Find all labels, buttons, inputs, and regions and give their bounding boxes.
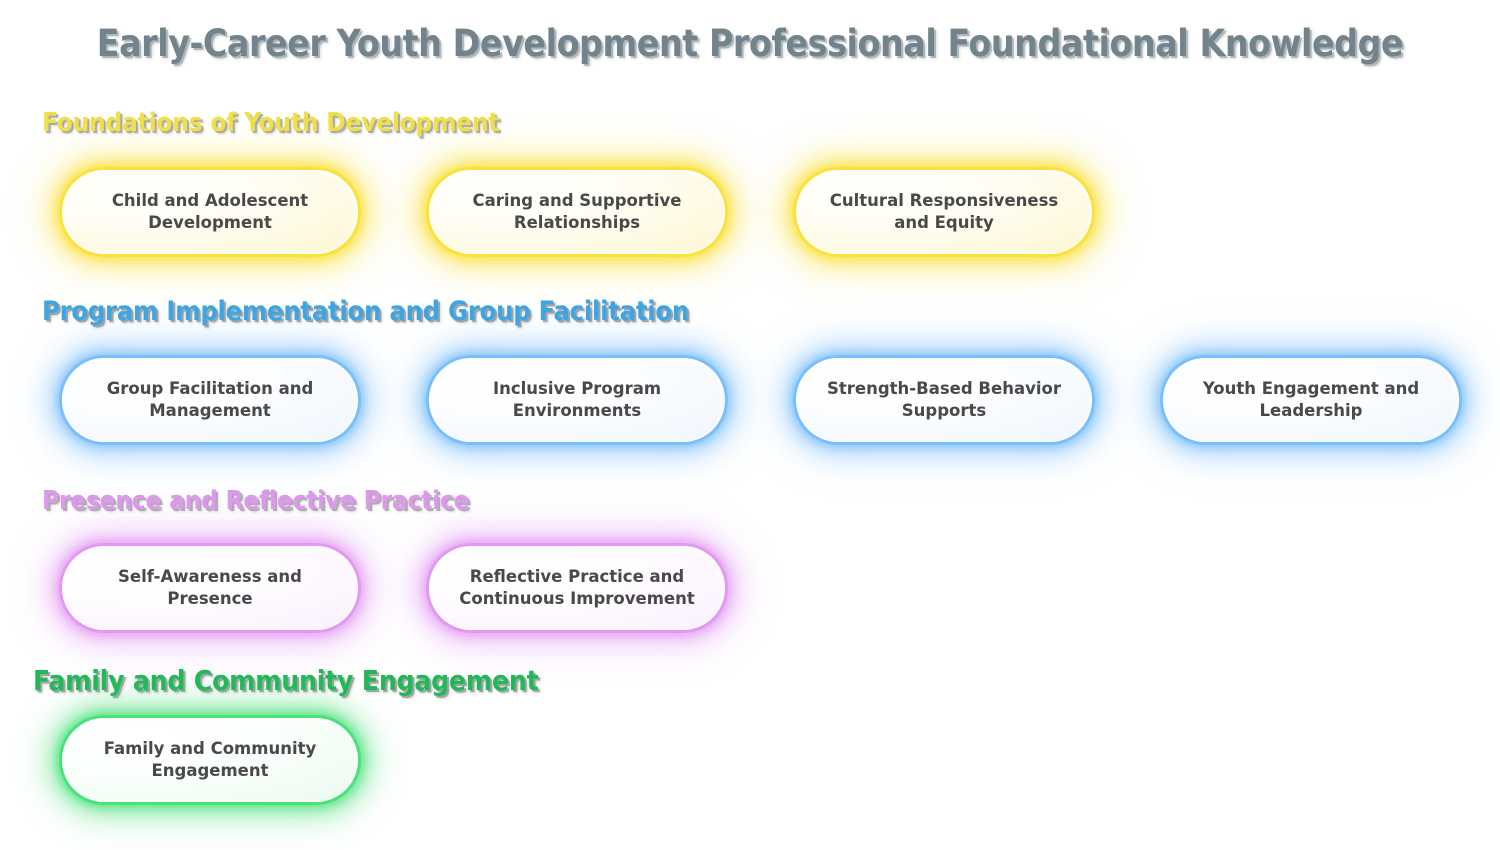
node-inclusive-program-environments[interactable]: Inclusive Program Environments [429,358,725,442]
section-header-program-implementation-and-group-facilitation: Program Implementation and Group Facilit… [42,296,689,327]
node-label: Inclusive Program Environments [456,378,698,423]
node-group-facilitation-and-management[interactable]: Group Facilitation and Management [62,358,358,442]
node-label: Group Facilitation and Management [89,378,331,423]
section-header-presence-and-reflective-practice: Presence and Reflective Practice [42,486,469,516]
node-cultural-responsiveness-and-equity[interactable]: Cultural Responsiveness and Equity [796,170,1092,254]
node-self-awareness-and-presence[interactable]: Self-Awareness and Presence [62,546,358,630]
node-caring-and-supportive-relationships[interactable]: Caring and Supportive Relationships [429,170,725,254]
section-header-foundations-of-youth-development: Foundations of Youth Development [42,108,499,138]
node-label: Youth Engagement and Leadership [1190,378,1432,423]
section-header-family-and-community-engagement: Family and Community Engagement [33,664,538,697]
node-label: Strength-Based Behavior Supports [823,378,1065,423]
node-label: Cultural Responsiveness and Equity [823,190,1065,235]
node-label: Caring and Supportive Relationships [456,190,698,235]
node-label: Self-Awareness and Presence [89,566,331,611]
page-title: Early-Career Youth Development Professio… [0,22,1500,65]
node-strength-based-behavior-supports[interactable]: Strength-Based Behavior Supports [796,358,1092,442]
node-label: Child and Adolescent Development [89,190,331,235]
node-family-and-community-engagement[interactable]: Family and Community Engagement [62,718,358,802]
node-label: Reflective Practice and Continuous Impro… [456,566,698,611]
node-label: Family and Community Engagement [89,738,331,783]
node-reflective-practice-and-continuous-improvement[interactable]: Reflective Practice and Continuous Impro… [429,546,725,630]
knowledge-map-canvas: Early-Career Youth Development Professio… [0,0,1500,850]
node-child-and-adolescent-development[interactable]: Child and Adolescent Development [62,170,358,254]
node-youth-engagement-and-leadership[interactable]: Youth Engagement and Leadership [1163,358,1459,442]
